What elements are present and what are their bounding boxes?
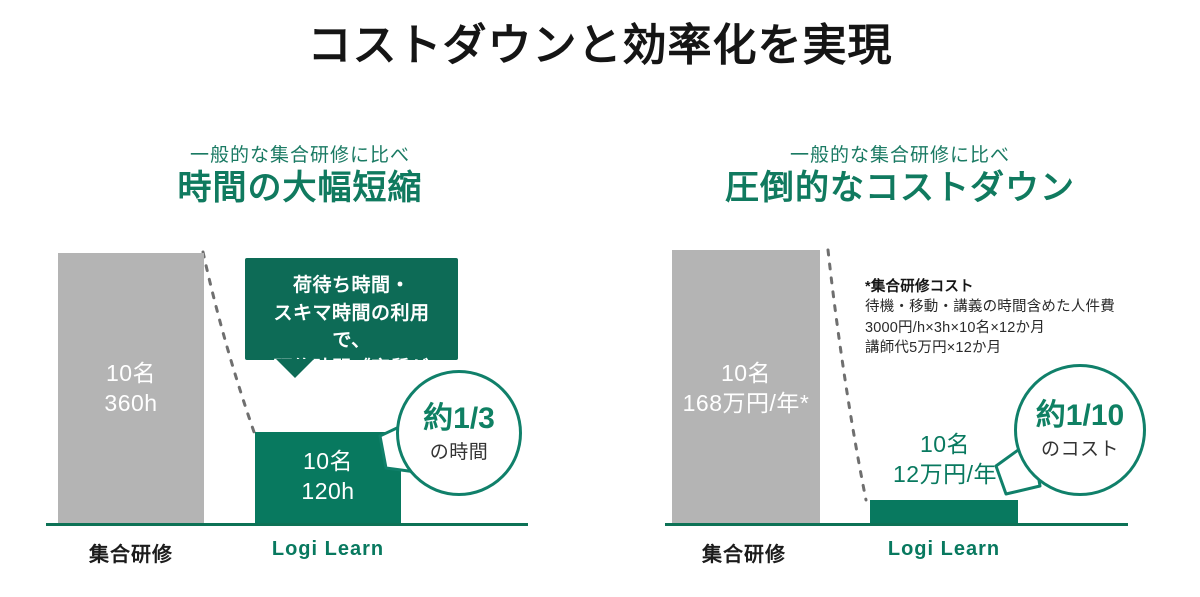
infographic-page: コストダウンと効率化を実現 一般的な集合研修に比べ 時間の大幅短縮 10名 36… — [0, 0, 1200, 597]
badge-cost-ratio: 約1/10 — [1036, 399, 1124, 432]
footnote-cost: *集合研修コスト待機・移動・講義の時間含めた人件費 3000円/h×3h×10名… — [865, 256, 1175, 359]
footnote-cost-lines: 待機・移動・講義の時間含めた人件費 3000円/h×3h×10名×12か月 講師… — [865, 299, 1115, 356]
badge-cost-circle: 約1/10 のコスト — [1014, 364, 1146, 496]
axis-baseline-cost — [665, 523, 1128, 526]
bar-time-group-value: 10名 360h — [58, 358, 204, 419]
badge-time-ratio: 約1/3 — [423, 402, 495, 435]
axis-label-time-logi: Logi Learn — [249, 538, 407, 561]
axis-label-cost-group: 集合研修 — [668, 538, 820, 567]
chart-cost: 10名 168万円/年* 10名 12万円/年 集合研修 Logi Learn … — [600, 0, 1200, 597]
panel-cost: 一般的な集合研修に比べ 圧倒的なコストダウン 10名 168万円/年* 10名 … — [600, 0, 1200, 597]
chart-time: 10名 360h 10名 120h 集合研修 Logi Learn 荷待ち時間・… — [0, 0, 600, 597]
footnote-cost-title: *集合研修コスト — [865, 277, 1175, 298]
panel-time: 一般的な集合研修に比べ 時間の大幅短縮 10名 360h 10名 120h 集合… — [0, 0, 600, 597]
badge-cost-unit: のコスト — [1041, 434, 1119, 461]
badge-time-circle: 約1/3 の時間 — [396, 370, 522, 496]
callout-time: 荷待ち時間・ スキマ時間の利用で、 研修時間《実質ゼロ》! — [245, 258, 458, 360]
callout-time-tail — [276, 359, 314, 378]
axis-label-time-group: 集合研修 — [58, 538, 204, 567]
bar-cost-group-value: 10名 168万円/年* — [666, 358, 826, 419]
badge-time-unit: の時間 — [430, 437, 489, 464]
axis-baseline-time — [46, 523, 528, 526]
badge-time: 約1/3 の時間 — [372, 368, 522, 516]
axis-label-cost-logi: Logi Learn — [864, 538, 1024, 561]
badge-cost: 約1/10 のコスト — [988, 362, 1148, 512]
